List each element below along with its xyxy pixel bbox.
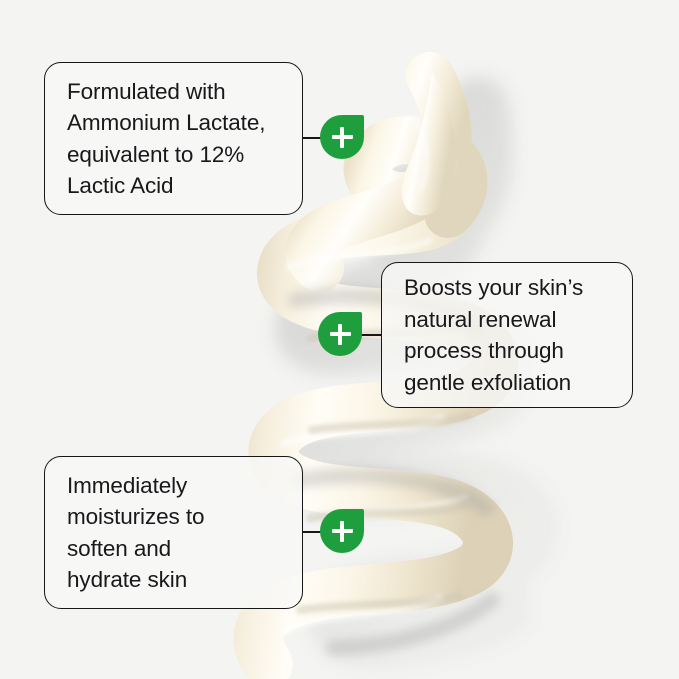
callout-box-3: Immediately moisturizes to soften and hy… [44, 456, 303, 609]
callout-text-1: Formulated with Ammonium Lactate, equiva… [67, 76, 265, 202]
plus-icon [332, 127, 353, 148]
plus-icon [332, 521, 353, 542]
plus-icon [330, 324, 351, 345]
callout-text-3: Immediately moisturizes to soften and hy… [67, 470, 204, 596]
callout-text-2: Boosts your skin’s natural renewal proce… [404, 272, 583, 398]
callout-box-2: Boosts your skin’s natural renewal proce… [381, 262, 633, 408]
plus-badge-3[interactable] [320, 509, 364, 553]
plus-badge-2[interactable] [318, 312, 362, 356]
callout-box-1: Formulated with Ammonium Lactate, equiva… [44, 62, 303, 215]
plus-badge-1[interactable] [320, 115, 364, 159]
product-benefits-infographic: Formulated with Ammonium Lactate, equiva… [0, 0, 679, 679]
